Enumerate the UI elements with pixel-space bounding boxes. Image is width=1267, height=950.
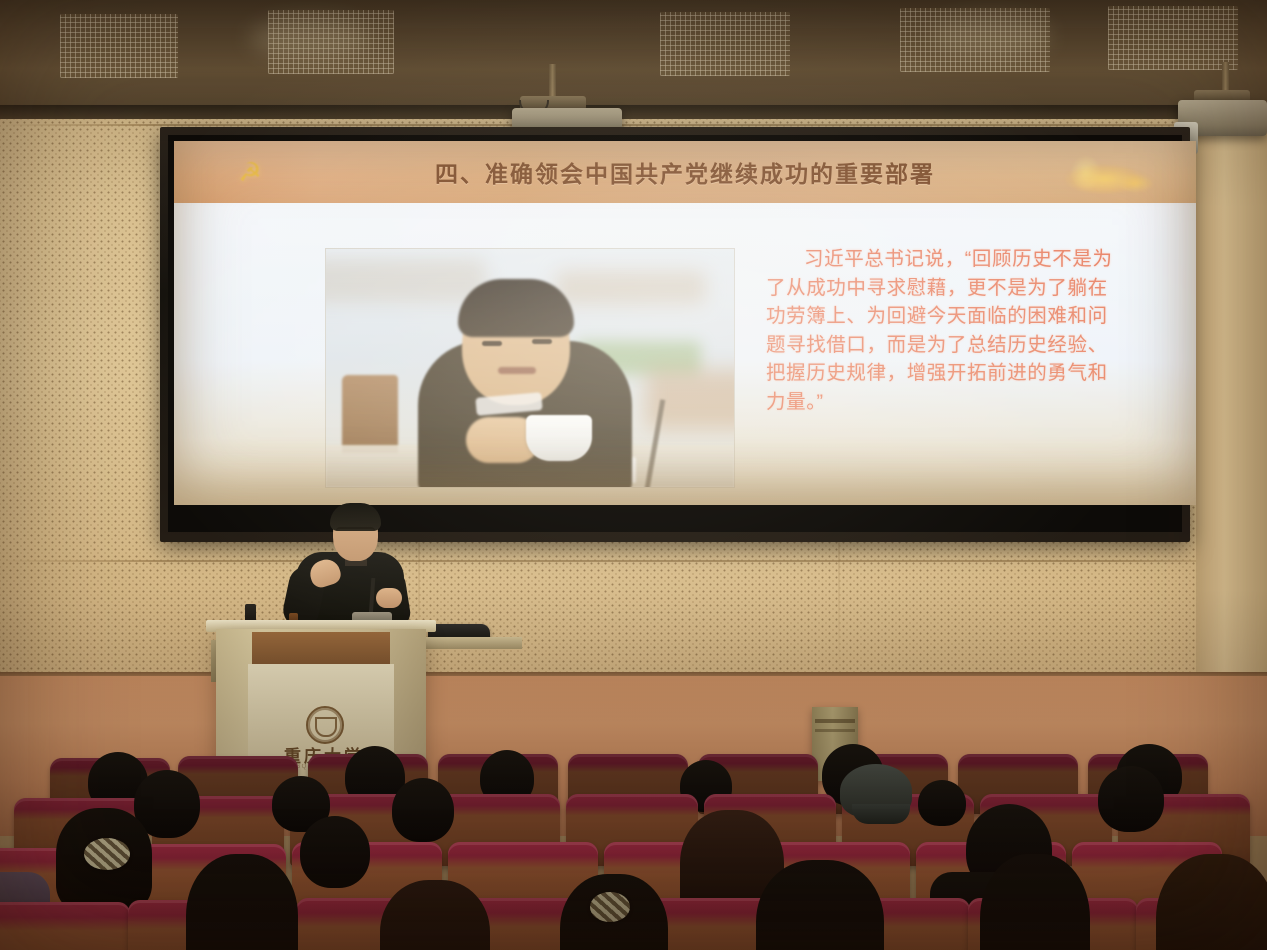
eyeglasses-icon [336, 527, 375, 537]
ceiling-light-glow [930, 16, 1050, 56]
hair-scrunchie [590, 892, 630, 922]
slide-photo [326, 249, 734, 487]
baseball-cap-brim [852, 804, 910, 824]
photo-person-mouth [498, 367, 536, 374]
slide-quote-text: 习近平总书记说，“回顾历史不是为了从成功中寻求慰藉，更不是为了躺在功劳簿上、为回… [766, 245, 1122, 416]
photo-chair [342, 375, 398, 453]
photo-person-hair [458, 279, 574, 337]
podium-wood-facing [252, 632, 390, 664]
ceiling-light-panel [1108, 6, 1238, 70]
photo-teacup [526, 415, 592, 461]
projector-mount-rod [549, 64, 556, 100]
university-seal-icon [306, 706, 344, 744]
ceiling-light-panel [660, 12, 790, 76]
audience-head [918, 780, 966, 826]
audience-head [392, 778, 454, 842]
projected-slide: 习近平总书记说，“回顾历史不是为了从成功中寻求慰藉，更不是为了躺在功劳簿上、为回… [174, 141, 1196, 505]
photo-person-eye [532, 339, 552, 344]
slide-body: 习近平总书记说，“回顾历史不是为了从成功中寻求慰藉，更不是为了躺在功劳簿上、为回… [174, 203, 1196, 505]
photo-background-blur [556, 271, 706, 305]
seat [0, 902, 130, 950]
audience-head [1098, 766, 1164, 832]
lecture-hall-photo: 习近平总书记说，“回顾历史不是为了从成功中寻求慰藉，更不是为了躺在功劳簿上、为回… [0, 0, 1267, 950]
audience-area [0, 744, 1267, 950]
ceiling-light-glow [250, 18, 370, 58]
photo-person-eye [482, 341, 502, 346]
slide-title: 四、准确领会中国共产党继续成功的重要部署 [174, 141, 1196, 203]
ceiling-band [0, 0, 1267, 118]
wall-pilaster [1196, 122, 1267, 762]
wall-panel-seam [0, 560, 1267, 562]
ceiling-trim [0, 105, 1267, 119]
wall-panel-seam [0, 124, 1267, 126]
photo-background-blur [326, 259, 486, 303]
side-table [426, 637, 522, 649]
audience-head [300, 816, 370, 888]
ceiling-light-panel [60, 14, 178, 78]
presenter-right-hand [376, 588, 402, 608]
hair-scrunchie [84, 838, 130, 870]
audience-head [186, 854, 298, 950]
projection-screen-frame: 习近平总书记说，“回顾历史不是为了从成功中寻求慰藉，更不是为了躺在功劳簿上、为回… [160, 127, 1190, 542]
